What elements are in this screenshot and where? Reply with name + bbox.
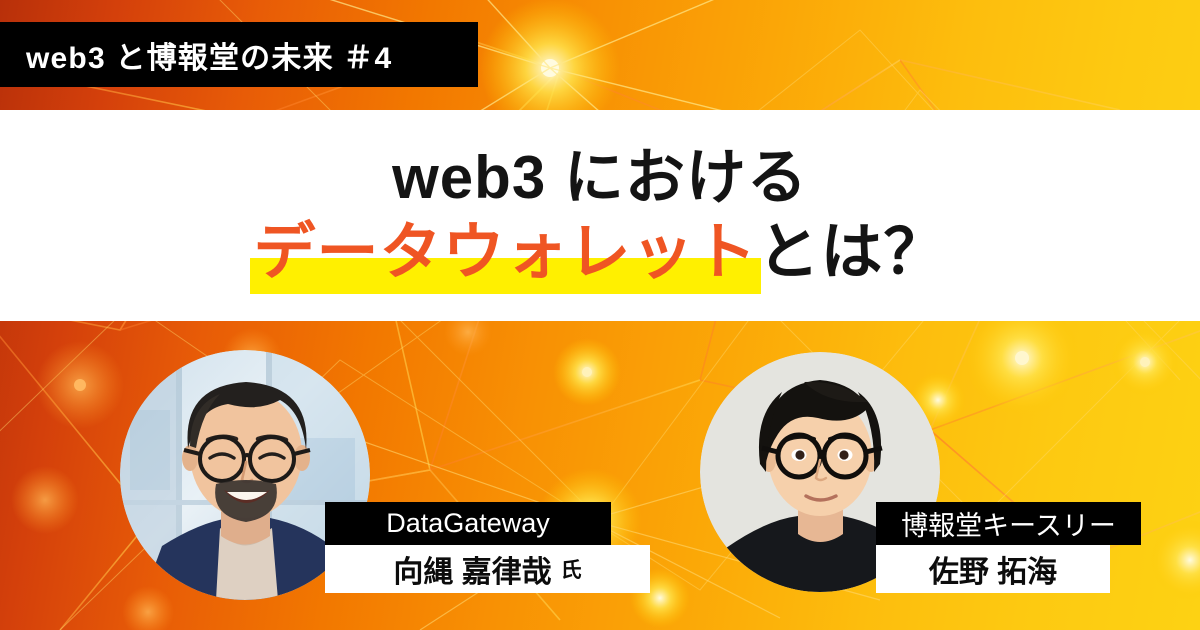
series-label: web3 と博報堂の未来 ＃4 bbox=[26, 33, 392, 77]
speaker-company-plate: 博報堂キースリー bbox=[876, 502, 1141, 545]
speaker-name: 向縄 嘉律哉 bbox=[393, 547, 551, 591]
speaker-company: DataGateway bbox=[386, 508, 550, 539]
speaker-name-plate: 向縄 嘉律哉 氏 bbox=[325, 545, 650, 593]
speaker-name-plate: 佐野 拓海 bbox=[876, 545, 1110, 593]
title-band: web3 における データウォレット とは？ bbox=[0, 110, 1200, 321]
speaker-name-suffix: 氏 bbox=[561, 554, 582, 584]
speaker-company: 博報堂キースリー bbox=[901, 504, 1116, 543]
speaker-company-plate: DataGateway bbox=[325, 502, 611, 545]
title-line-1: web3 における bbox=[392, 148, 808, 208]
series-ribbon: web3 と博報堂の未来 ＃4 bbox=[0, 22, 478, 87]
title-highlight-term: データウォレット bbox=[253, 222, 757, 284]
title-line-2: データウォレット とは？ bbox=[253, 222, 946, 284]
promo-banner: web3 と博報堂の未来 ＃4 web3 における データウォレット とは？ bbox=[0, 0, 1200, 630]
title-question-suffix: とは？ bbox=[758, 222, 947, 284]
speaker-name: 佐野 拓海 bbox=[929, 547, 1057, 591]
